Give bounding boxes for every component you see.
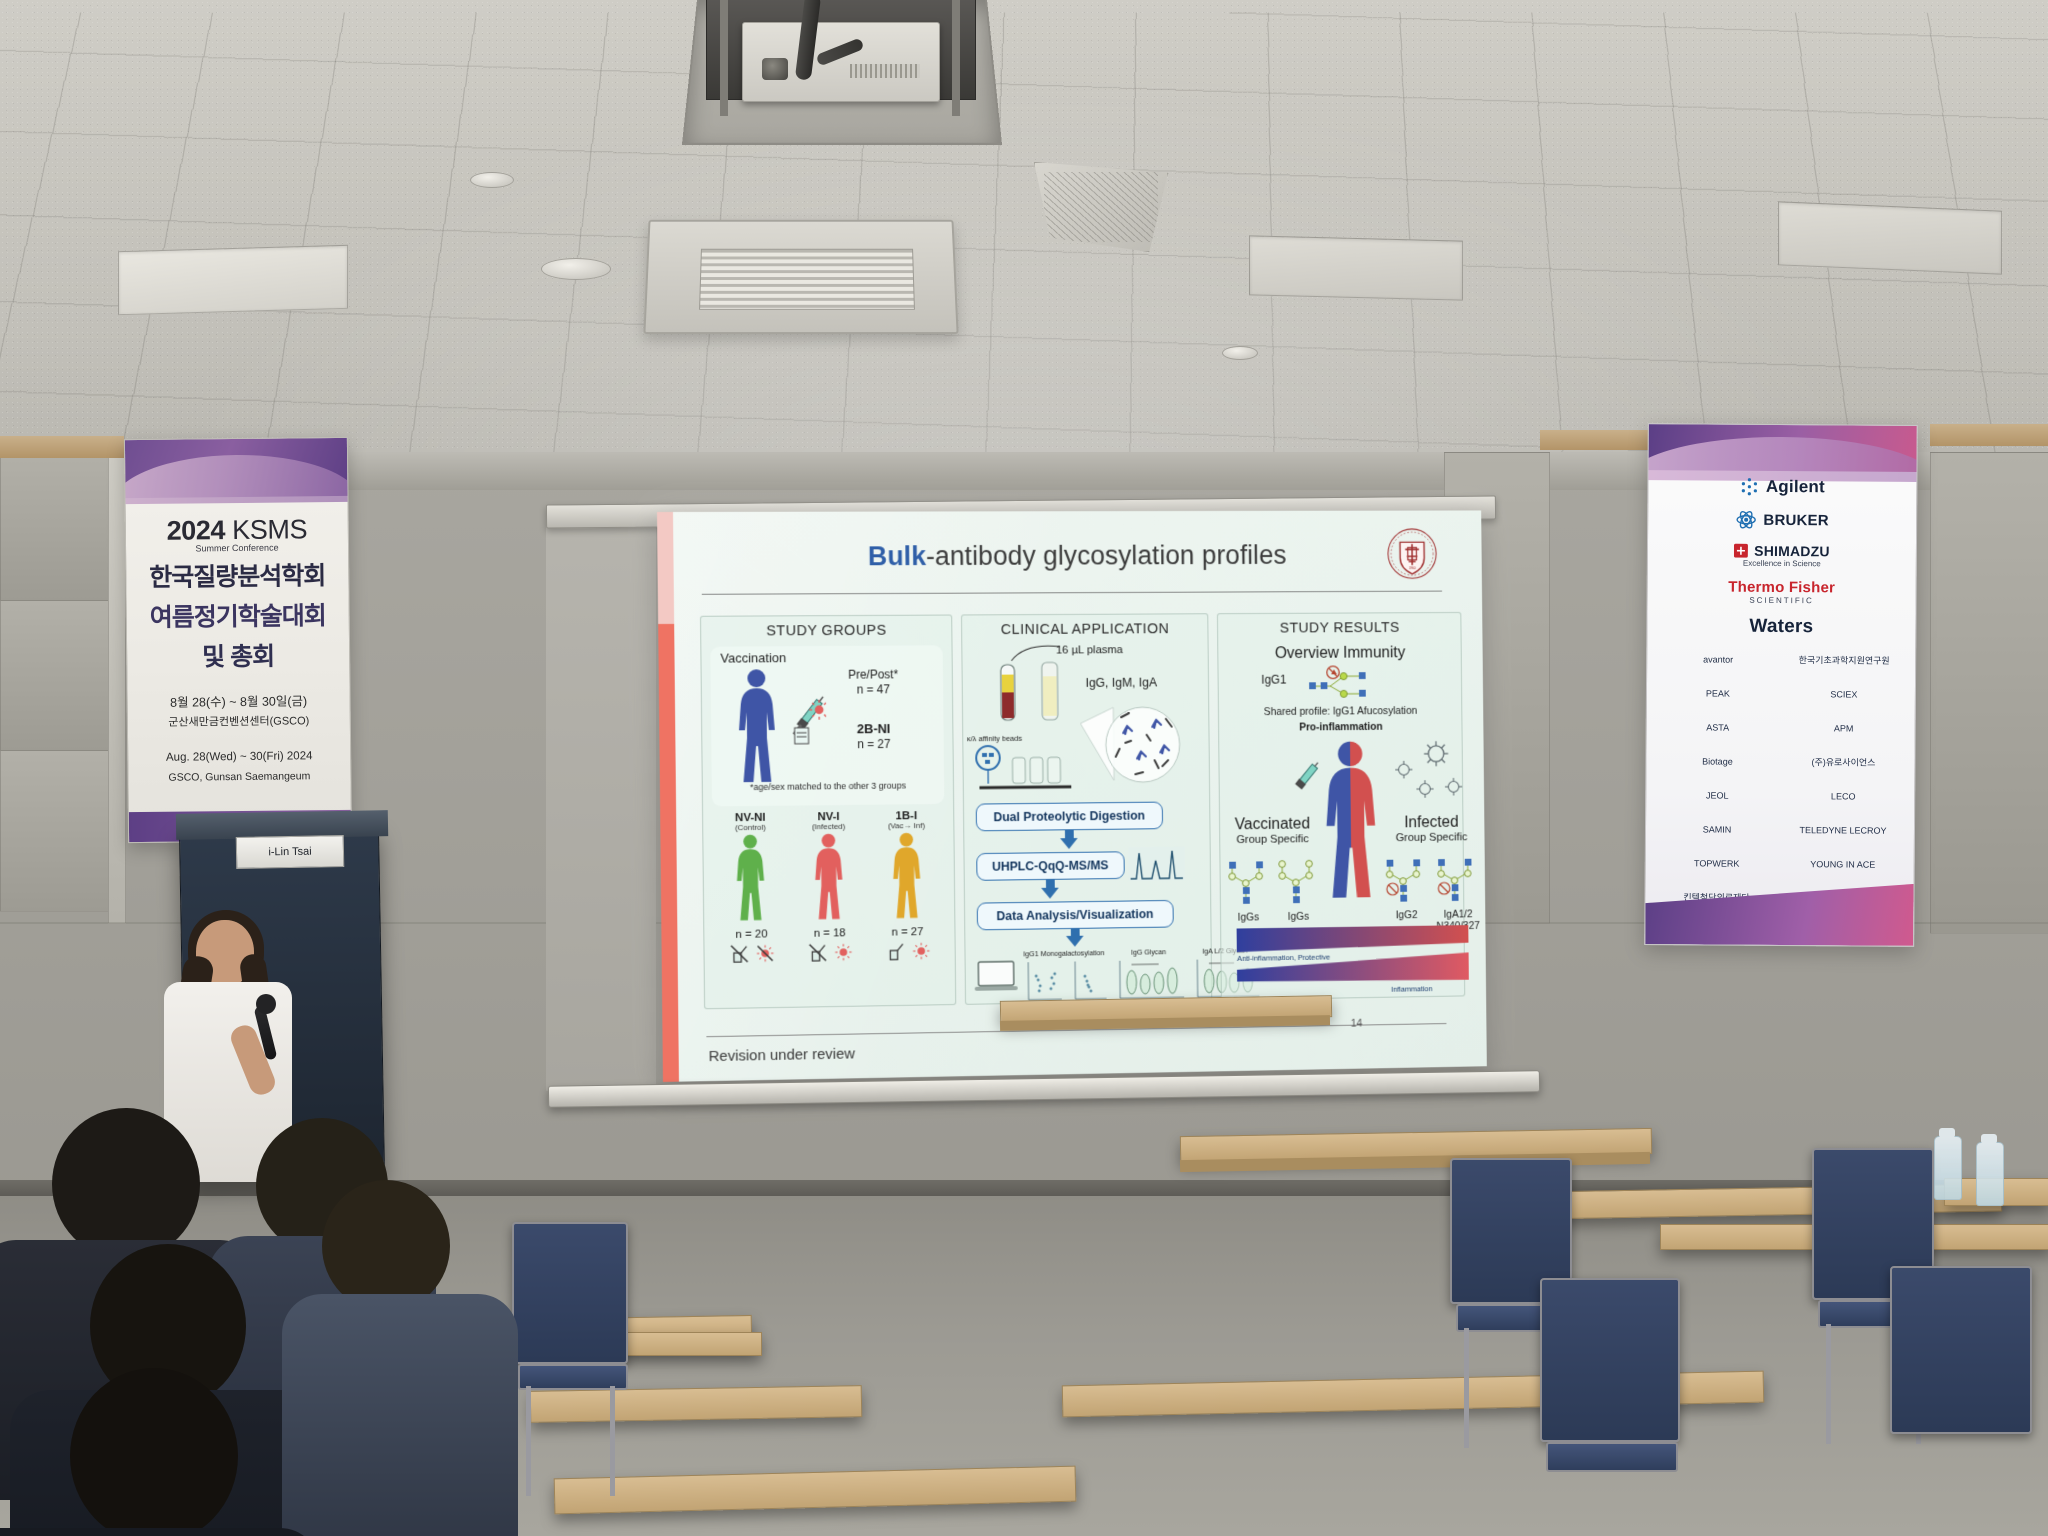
wall-pilaster-far-right — [1930, 452, 2048, 934]
ksms-conference-banner: 2024 KSMS Summer Conference 한국질량분석학회 여름정… — [124, 437, 352, 843]
sponsor-bruker: BRUKER — [1648, 509, 1916, 531]
body-figure-split-vaccinated-infected — [1321, 737, 1382, 904]
group-1b-i-n: n = 27 — [869, 926, 947, 939]
panel-heading-clinical-application: CLINICAL APPLICATION — [962, 621, 1208, 638]
glycan-structure-iggs-1 — [1225, 859, 1268, 907]
wall-stone-panel-1 — [0, 452, 110, 602]
glycan-structure-igg2 — [1382, 857, 1424, 904]
virus-cluster-icon — [1392, 740, 1469, 811]
glycan-structure-overview-icon — [1302, 662, 1398, 702]
ceiling-speaker — [541, 258, 611, 280]
sponsor-banner: Agilent BRUKER SHIMADZU Exc — [1644, 423, 1918, 947]
body-figure-nv-i — [812, 833, 847, 921]
study-groups-row: NV-NI (Control) n = 20 — [711, 810, 947, 982]
no-fucose-icon — [1439, 882, 1451, 894]
group-nv-i-icons — [791, 941, 869, 964]
sponsor-shimadzu-tagline: Excellence in Science — [1648, 558, 1916, 569]
ceiling-smoke-detector — [470, 172, 514, 188]
taipei-medical-university-crest-icon: 1960 — [1386, 526, 1438, 583]
projection-screen: Bulk-antibody glycosylation profiles 196… — [657, 510, 1487, 1081]
no-fucose-icon — [1387, 883, 1399, 895]
infected-glycan-label-1: IgG2 — [1383, 909, 1431, 921]
affinity-beads-icon — [973, 743, 1077, 791]
isotypes-label: IgG, IgM, IgA — [1085, 676, 1157, 690]
wood-trim-left — [0, 436, 124, 458]
slide-number: 14 — [1351, 1018, 1363, 1030]
ceiling — [0, 0, 2048, 470]
group-2bni: 2B-NI n = 27 — [828, 721, 919, 753]
group-nv-i-n: n = 18 — [791, 927, 869, 940]
flow-step-uhplc: UHPLC-QqQ-MS/MS — [976, 851, 1125, 881]
sponsor-cell: YOUNG IN ACE — [1782, 851, 1904, 880]
ceiling-light-panel-left — [118, 245, 348, 315]
projector-mount-arm-left — [720, 0, 728, 116]
panel-heading-study-groups: STUDY GROUPS — [701, 622, 951, 639]
vaccination-card: Vaccination — [710, 645, 944, 806]
results-vaccinated-side: Vaccinated Group Specific — [1224, 816, 1321, 847]
sponsor-agilent-label: Agilent — [1766, 477, 1825, 497]
sponsor-cell: Biotage — [1656, 748, 1778, 777]
projector-lens — [762, 58, 788, 80]
ksms-korean-line-1: 한국질량분석학회 — [126, 556, 348, 594]
wood-trim-right — [1540, 430, 1660, 450]
ceiling-light-panel-far-right — [1778, 201, 2002, 274]
ksms-banner-header-graphic — [125, 438, 348, 498]
ksms-venue-korean: 군산새만금컨벤션센터(GSCO) — [128, 712, 350, 730]
sponsor-bruker-label: BRUKER — [1763, 511, 1828, 528]
flow-arrow-3 — [1066, 936, 1084, 947]
no-vaccine-icon — [807, 941, 829, 963]
glycan-structure-iga12 — [1434, 857, 1476, 904]
sponsor-shimadzu-label: SHIMADZU — [1754, 543, 1830, 560]
group-1b-i-icons — [869, 940, 947, 963]
body-figure-nv-ni — [734, 834, 769, 922]
air-conditioner-grille — [699, 249, 915, 310]
slide-title: Bulk-antibody glycosylation profiles — [719, 540, 1430, 573]
virus-icon — [911, 941, 931, 961]
sponsor-cell: LECO — [1782, 783, 1904, 812]
ksms-korean-line-3: 및 총회 — [127, 636, 349, 674]
sponsor-agilent: Agilent — [1648, 476, 1916, 498]
desk-left-small — [620, 1332, 762, 1356]
sponsor-cell: (주)유로사이언스 — [1782, 749, 1904, 778]
ceiling-light-panel-right — [1249, 235, 1463, 300]
wall-pilaster-left — [108, 452, 126, 924]
water-bottle-cap-1 — [1939, 1128, 1955, 1138]
infected-glycans: IgG2 — [1382, 857, 1482, 934]
flow-arrow-2 — [1041, 888, 1059, 899]
shared-profile-line2: Pro-inflammation — [1219, 720, 1461, 734]
panel-study-groups: STUDY GROUPS Vaccination — [700, 615, 956, 1010]
group-nv-ni-icons — [712, 942, 791, 965]
slide-accent-bottom — [658, 624, 679, 1082]
group-nv-ni-sub: (Control) — [711, 823, 789, 833]
glycan-structure-iggs-2 — [1275, 859, 1318, 907]
slide-title-bold: Bulk — [868, 541, 926, 571]
group-prepost-label: Pre/Post* — [828, 667, 919, 683]
plasma-tube-icon — [1037, 660, 1063, 727]
shimadzu-logo-icon — [1734, 544, 1748, 558]
vaccinated-glycans: IgGs — [1225, 859, 1322, 924]
projector-vent — [850, 64, 920, 78]
sponsor-waters: Waters — [1647, 615, 1915, 639]
screen-left-margin — [546, 511, 656, 1093]
plasma-leader-line — [1009, 641, 1064, 663]
sponsor-thermofisher-label: Thermo Fisher — [1648, 578, 1916, 597]
sponsor-cell: TOPWERK — [1656, 850, 1778, 879]
results-infected-sub: Group Specific — [1382, 831, 1481, 844]
group-prepost-n: n = 47 — [828, 682, 919, 698]
ksms-subtitle: Summer Conference — [126, 542, 348, 554]
overview-igg1-label: IgG1 — [1261, 673, 1286, 687]
flow-step-digestion: Dual Proteolytic Digestion — [975, 802, 1162, 832]
microphone-head — [256, 994, 276, 1014]
sponsor-cell: APM — [1783, 715, 1905, 744]
results-infected-side: Infected Group Specific — [1382, 814, 1481, 844]
ksms-org: KSMS — [232, 514, 307, 545]
antibody-pool-diagram — [1080, 697, 1182, 795]
ksms-date-english: Aug. 28(Wed) ~ 30(Fri) 2024 — [128, 750, 350, 764]
ksms-venue-english: GSCO, Gunsan Saemangeum — [128, 770, 350, 784]
vaccinated-glycan-label-1: IgGs — [1225, 911, 1271, 924]
syringe-icon-results — [1289, 759, 1328, 799]
vaccine-icon — [884, 940, 906, 962]
svg-text:1960: 1960 — [1409, 567, 1416, 571]
shared-profile-line1: Shared profile: IgG1 Afucosylation — [1219, 705, 1461, 719]
ksms-year: 2024 — [166, 515, 225, 546]
group-prepost: Pre/Post* n = 47 — [828, 667, 919, 697]
flow-arrow-1 — [1060, 838, 1078, 849]
sponsor-thermofisher: Thermo Fisher SCIENTIFIC — [1648, 578, 1916, 606]
agilent-logo-icon — [1740, 477, 1760, 497]
sponsor-waters-label: Waters — [1749, 616, 1813, 637]
chromatogram-icon — [1128, 847, 1185, 881]
sponsor-shimadzu: SHIMADZU Excellence in Science — [1648, 542, 1916, 569]
wall-stone-panel-3 — [0, 750, 110, 912]
slide-footer-text: Revision under review — [709, 1045, 856, 1065]
sponsor-cell: ASTA — [1657, 714, 1779, 743]
podium-nameplate: i-Lin Tsai — [236, 835, 345, 869]
no-infection-icon — [755, 943, 775, 963]
water-bottle-cap-2 — [1981, 1134, 1997, 1144]
panel-clinical-application: CLINICAL APPLICATION 16 µL plasma — [961, 613, 1213, 1005]
flow-step-analysis: Data Analysis/Visualization — [976, 900, 1173, 930]
sponsor-banner-header-graphic — [1648, 424, 1916, 472]
ceiling-light-falloff — [0, 0, 2048, 470]
blood-tube-icon — [995, 663, 1019, 728]
group-nv-i: NV-I (Infected) n = 18 — [789, 811, 869, 981]
bruker-logo-icon — [1735, 510, 1757, 530]
panel-study-results: STUDY RESULTS Overview Immunity IgG1 — [1217, 612, 1465, 1001]
no-fucose-icon — [1327, 666, 1339, 679]
body-figure-1b-i — [890, 832, 924, 920]
projector-mount-arm-right — [952, 0, 960, 116]
group-nv-ni-n: n = 20 — [712, 928, 790, 941]
sponsor-cell: 한국기초과학지원연구원 — [1783, 647, 1905, 676]
gradient-label-inflammation: Inflammation — [1391, 984, 1433, 993]
sponsor-thermofisher-tagline: SCIENTIFIC — [1648, 595, 1916, 606]
plasma-volume-label: 16 µL plasma — [1056, 644, 1123, 656]
water-bottle-2 — [1976, 1142, 2004, 1206]
group-2bni-n: n = 27 — [828, 737, 919, 753]
sponsor-cell: TELEDYNE LECROY — [1782, 817, 1904, 846]
ksms-date-korean: 8월 28(수) ~ 8월 30일(금) — [128, 690, 350, 711]
no-vaccine-icon — [728, 943, 750, 965]
study-groups-footnote: *age/sex matched to the other 3 groups — [712, 780, 944, 792]
ksms-korean-line-2: 여름정기학술대회 — [127, 596, 349, 634]
slide-canvas: Bulk-antibody glycosylation profiles 196… — [679, 510, 1487, 1081]
results-infected-title: Infected — [1382, 814, 1481, 833]
wood-trim-far-right — [1930, 424, 2048, 446]
sponsor-cell: SCIEX — [1783, 681, 1905, 710]
group-nv-ni: NV-NI (Control) n = 20 — [711, 812, 791, 983]
group-2bni-label: 2B-NI — [828, 721, 919, 738]
virus-icon — [833, 942, 853, 962]
vaccination-label: Vaccination — [720, 650, 786, 665]
ceiling-sensor-small — [1222, 346, 1258, 360]
slide-title-rest: -antibody glycosylation profiles — [926, 540, 1287, 571]
screenshot-root: Bulk-antibody glycosylation profiles 196… — [0, 0, 2048, 1536]
sponsor-cell: JEOL — [1656, 782, 1778, 811]
vaccinated-glycan-label-2: IgGs — [1275, 911, 1321, 923]
affinity-beads-label: κ/λ affinity beads — [967, 734, 1022, 743]
gradient-label-protective: Anti-inflammation, Protective — [1237, 953, 1330, 963]
sponsor-tier1-list: Agilent BRUKER SHIMADZU Exc — [1647, 476, 1916, 639]
slide-panels: STUDY GROUPS Vaccination — [700, 612, 1465, 1009]
laptop-icon — [973, 959, 1018, 993]
syringe-icon — [788, 692, 826, 748]
results-vaccinated-sub: Group Specific — [1224, 833, 1320, 846]
slide-title-divider — [702, 591, 1442, 596]
water-bottle-1 — [1934, 1136, 1962, 1200]
group-nv-i-sub: (Infected) — [790, 822, 868, 832]
group-1b-i-sub: (Vac→ Inf) — [868, 821, 946, 831]
desk-left-front-2 — [530, 1385, 863, 1423]
overview-immunity-title: Overview Immunity — [1219, 644, 1461, 663]
panel-heading-study-results: STUDY RESULTS — [1218, 620, 1460, 637]
wall-stone-panel-2 — [0, 600, 110, 752]
group-1b-i: 1B-I (Vac→ Inf) n = 27 — [867, 810, 946, 980]
body-figure-vaccination — [734, 668, 779, 784]
slide-accent-top — [657, 512, 674, 624]
results-vaccinated-title: Vaccinated — [1224, 816, 1320, 835]
sponsor-cell: PEAK — [1657, 680, 1779, 709]
sponsor-cell: avantor — [1657, 646, 1779, 675]
sponsor-cell: SAMIN — [1656, 816, 1778, 845]
